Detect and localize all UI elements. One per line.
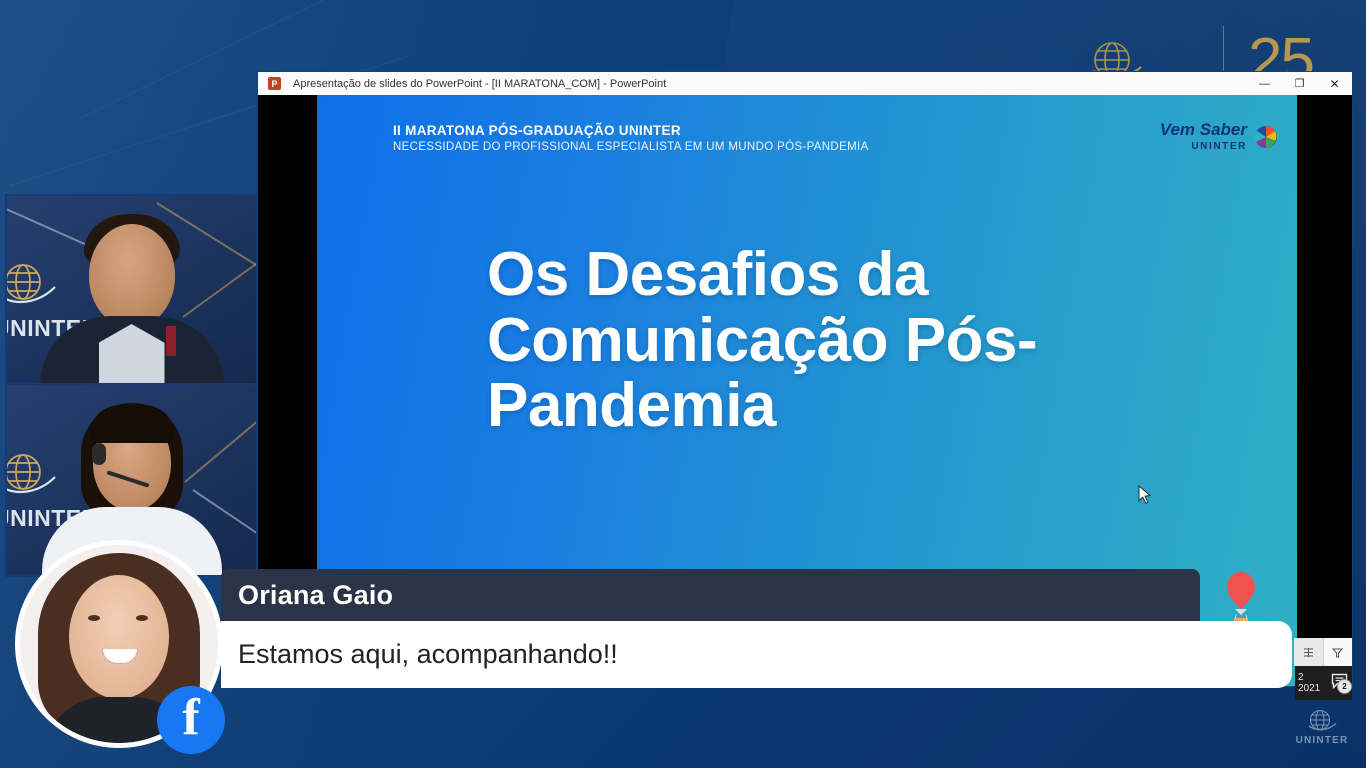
comment-message-text: Estamos aqui, acompanhando!! — [238, 639, 618, 670]
slide-title: Os Desafios da Comunicação Pós-Pandemia — [487, 242, 1127, 439]
slide-header-line2: NECESSIDADE DO PROFISSIONAL ESPECIALISTA… — [393, 141, 869, 153]
vem-saber-logo: Vem Saber UNINTER — [1160, 121, 1279, 152]
avatar-face — [69, 575, 169, 699]
avatar-eye-right — [136, 615, 148, 621]
slide-header-line1: II MARATONA PÓS-GRADUAÇÃO UNINTER — [393, 123, 869, 138]
close-button[interactable]: ✕ — [1317, 72, 1352, 95]
mouse-cursor — [1138, 485, 1154, 505]
notification-badge: 2 — [1337, 679, 1352, 694]
volume-icon[interactable] — [1323, 638, 1352, 666]
presenter-tie — [166, 326, 176, 356]
comment-author-name: Oriana Gaio — [238, 580, 393, 611]
maximize-button[interactable]: ❐ — [1282, 72, 1317, 95]
comment-message-bar: Estamos aqui, acompanhando!! — [221, 621, 1292, 688]
comment-author-bar: Oriana Gaio — [221, 569, 1200, 621]
notifications-button[interactable]: 2 — [1327, 666, 1353, 696]
network-icon[interactable] — [1294, 638, 1323, 666]
colorful-globe-icon — [1253, 124, 1279, 150]
headset-earpiece-icon — [92, 443, 106, 465]
vem-saber-logo-bottom: UNINTER — [1160, 141, 1247, 152]
window-titlebar[interactable]: P Apresentação de slides do PowerPoint -… — [258, 72, 1352, 96]
uninter-watermark-text: UNINTER — [1296, 735, 1349, 746]
uninter-globe-icon — [1305, 708, 1339, 734]
avatar-eye-left — [88, 615, 100, 621]
system-tray[interactable] — [1294, 638, 1352, 666]
presenter-video-tile-1[interactable]: UNINTER — [5, 194, 258, 386]
facebook-badge-icon: f — [157, 686, 225, 754]
powerpoint-app-icon: P — [268, 77, 281, 90]
minimize-button[interactable]: — — [1247, 72, 1282, 95]
window-controls[interactable]: — ❐ ✕ — [1247, 72, 1352, 95]
vem-saber-logo-top: Vem Saber — [1160, 121, 1247, 138]
uninter-watermark: UNINTER — [1293, 708, 1351, 746]
uninter-globe-icon — [5, 450, 59, 500]
window-title: Apresentação de slides do PowerPoint - [… — [293, 78, 666, 90]
uninter-globe-icon — [5, 260, 59, 310]
presenter-head — [89, 224, 175, 328]
presenter-hair-front — [89, 405, 175, 443]
facebook-glyph: f — [182, 692, 199, 744]
slide-header: II MARATONA PÓS-GRADUAÇÃO UNINTER NECESS… — [393, 123, 869, 153]
balloon-icon — [1227, 572, 1255, 628]
